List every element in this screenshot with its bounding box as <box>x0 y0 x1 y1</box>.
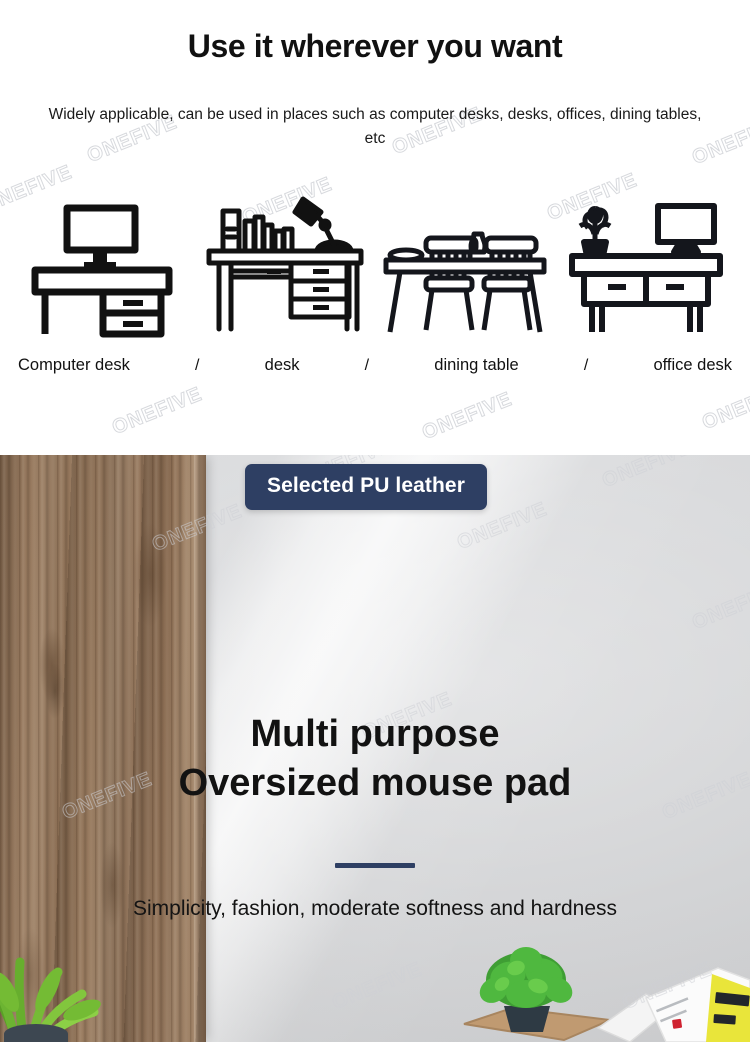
scenario-item-desk <box>200 190 370 340</box>
scenario-item-dining-table <box>380 190 550 340</box>
product-hero-title: Multi purpose Oversized mouse pad <box>0 710 750 807</box>
office-desk-icon <box>566 198 726 340</box>
scenario-label-row: Computer desk / desk / dining table / of… <box>18 356 732 375</box>
product-hero-photo-section: ONEFIVE ONEFIVE ONEFIVE ONEFIVE ONEFIVE … <box>0 455 750 1042</box>
scenario-label-office-desk: office desk <box>653 356 732 375</box>
computer-desk-icon <box>29 200 179 340</box>
product-hero-tagline: Simplicity, fashion, moderate softness a… <box>0 897 750 921</box>
title-divider <box>335 863 415 868</box>
scenario-label-desk: desk <box>265 356 300 375</box>
section-subheadline: Widely applicable, can be used in places… <box>45 103 705 151</box>
product-scene-right <box>460 932 750 1042</box>
label-separator: / <box>363 357 371 375</box>
product-hero-title-line1: Multi purpose <box>0 710 750 759</box>
product-detail-image: ONEFIVE ONEFIVE ONEFIVE ONEFIVE ONEFIVE … <box>0 0 750 1042</box>
watermark-text: ONEFIVE <box>109 383 206 440</box>
usage-scenarios-section: ONEFIVE ONEFIVE ONEFIVE ONEFIVE ONEFIVE … <box>0 0 750 455</box>
scenario-icon-row <box>0 190 750 340</box>
scenario-label-computer-desk: Computer desk <box>18 356 130 375</box>
watermark-text: ONEFIVE <box>699 378 750 435</box>
scenario-item-office-desk <box>561 190 731 340</box>
watermark-text: ONEFIVE <box>419 388 516 445</box>
label-separator: / <box>193 357 201 375</box>
label-separator: / <box>582 357 590 375</box>
writing-desk-icon <box>205 195 365 340</box>
scenario-item-computer-desk <box>19 190 189 340</box>
scenario-label-dining-table: dining table <box>434 356 518 375</box>
pu-leather-badge: Selected PU leather <box>245 464 487 510</box>
foliage-plant-left <box>0 928 140 1042</box>
dining-table-icon <box>380 208 550 340</box>
section-headline: Use it wherever you want <box>0 28 750 65</box>
product-hero-title-line2: Oversized mouse pad <box>0 759 750 808</box>
